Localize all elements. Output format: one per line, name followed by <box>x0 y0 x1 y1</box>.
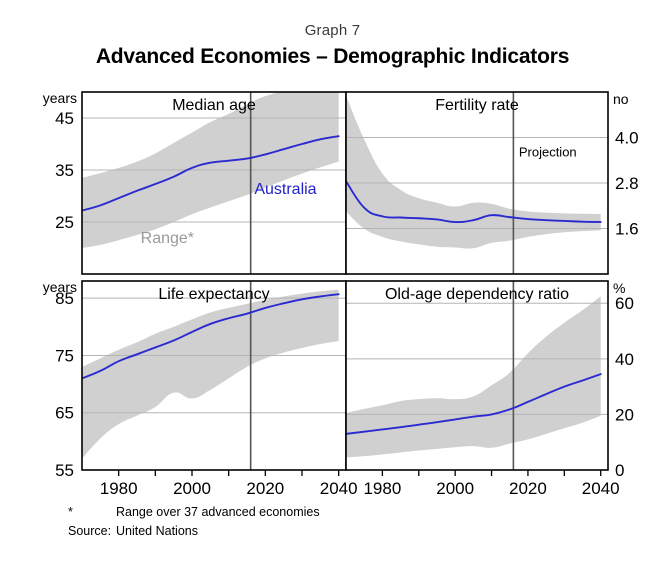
panel-old-age-dependency-ratio: Old-age dependency ratio0204060%19802000… <box>346 280 634 498</box>
projection-label: Projection <box>519 144 577 159</box>
footnotes: * Range over 37 advanced economies Sourc… <box>68 505 320 538</box>
y-tick-label: 2.8 <box>615 174 639 193</box>
y-tick-label: 0 <box>615 461 624 480</box>
demographic-indicators-chart: Median age253545yearsFertility rate1.62.… <box>0 0 665 500</box>
y-tick-label: 40 <box>615 350 634 369</box>
y-tick-label: 65 <box>55 404 74 423</box>
x-tick-label: 1980 <box>363 479 401 498</box>
x-tick-label: 2000 <box>173 479 211 498</box>
y-axis-unit: years <box>43 279 77 295</box>
y-axis-unit: no <box>613 91 629 107</box>
y-tick-label: 75 <box>55 346 74 365</box>
footnote-range-text: Range over 37 advanced economies <box>116 505 320 519</box>
panel-title-life-expectancy: Life expectancy <box>158 286 269 303</box>
series-label-australia: Australia <box>254 181 316 198</box>
y-tick-label: 4.0 <box>615 129 639 148</box>
x-tick-label: 2020 <box>509 479 547 498</box>
y-tick-label: 1.6 <box>615 220 639 239</box>
x-tick-label: 2020 <box>246 479 284 498</box>
panel-title-fertility-rate: Fertility rate <box>435 97 519 114</box>
y-tick-label: 55 <box>55 461 74 480</box>
x-tick-label: 1980 <box>100 479 138 498</box>
y-tick-label: 35 <box>55 161 74 180</box>
x-tick-label: 2040 <box>320 479 358 498</box>
y-tick-label: 25 <box>55 213 74 232</box>
source-row: Source: United Nations <box>68 524 320 538</box>
source-label: Source: <box>68 524 116 538</box>
y-axis-unit: years <box>43 90 77 106</box>
panel-life-expectancy: Life expectancy55657585years198020002020… <box>43 279 358 498</box>
source-text: United Nations <box>116 524 198 538</box>
x-tick-label: 2000 <box>436 479 474 498</box>
footnote-marker: * <box>68 505 116 519</box>
footnote-range: * Range over 37 advanced economies <box>68 505 320 519</box>
y-tick-label: 45 <box>55 109 74 128</box>
y-axis-unit: % <box>613 280 625 296</box>
panel-title-old-age-dependency-ratio: Old-age dependency ratio <box>385 286 569 303</box>
y-tick-label: 20 <box>615 405 634 424</box>
y-tick-label: 60 <box>615 294 634 313</box>
x-tick-label: 2040 <box>582 479 620 498</box>
range-label: Range* <box>141 230 194 247</box>
panel-fertility-rate: Fertility rate1.62.84.0no <box>346 91 639 274</box>
graph-figure: Graph 7 Advanced Economies – Demographic… <box>0 0 665 574</box>
panel-title-median-age: Median age <box>172 97 256 114</box>
